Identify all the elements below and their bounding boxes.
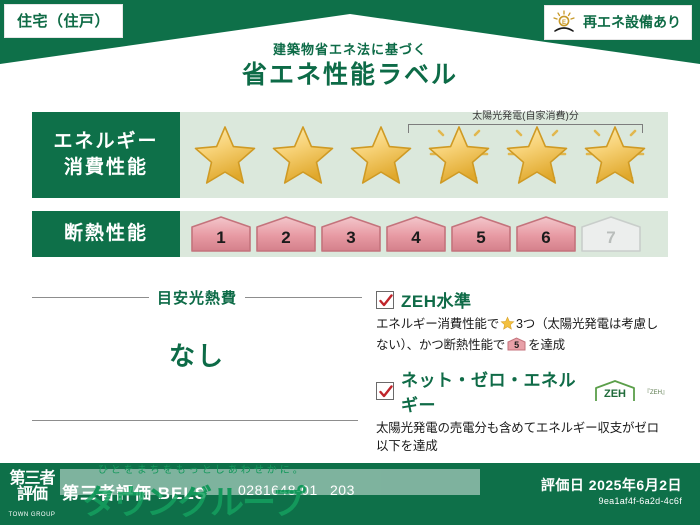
insulation-badge-7: 7 — [580, 215, 642, 253]
insulation-level-badges: 1234567 — [180, 215, 642, 253]
star-rating — [180, 118, 668, 192]
town-group-logo: 第三者評価 TOWN GROUP — [4, 471, 60, 518]
renewable-equipment-badge: E 再エネ設備あり — [544, 5, 692, 40]
energy-label-line1: エネルギー — [53, 129, 158, 155]
insulation-badge-value: 7 — [580, 228, 642, 248]
star-3 — [344, 118, 418, 192]
svg-text:E: E — [562, 20, 566, 26]
insulation-badge-2: 2 — [255, 215, 317, 253]
insulation-level-inline-badge: 5 — [507, 337, 526, 351]
energy-performance-value: 太陽光発電(自家消費)分 — [180, 112, 668, 198]
zeh-desc-part1: エネルギー消費性能で — [376, 317, 499, 331]
insulation-badge-1: 1 — [190, 215, 252, 253]
energy-performance-label: エネルギー 消費性能 — [32, 112, 180, 198]
insulation-badge-value: 1 — [190, 228, 252, 248]
insulation-performance-label: 断熱性能 — [32, 211, 180, 257]
town-group-mark: 第三者評価 — [4, 471, 60, 503]
insulation-label-text: 断熱性能 — [64, 221, 148, 247]
insulation-badge-value: 5 — [450, 228, 512, 248]
net-zero-description: 太陽光発電の売電分も含めてエネルギー収支がゼロ以下を達成 — [376, 419, 668, 455]
insulation-badge-value: 6 — [515, 228, 577, 248]
zeh-logo-subtext: 『ZEH』 — [644, 387, 668, 396]
sun-icon: E — [551, 10, 577, 34]
insulation-badge-5: 5 — [450, 215, 512, 253]
rating-rows: エネルギー 消費性能 太陽光発電(自家消費)分 — [32, 112, 668, 270]
star-6 — [578, 118, 652, 192]
house-type-tag: 住宅（住戸） — [4, 4, 123, 38]
utility-cost-heading: 目安光熱費 — [32, 287, 362, 308]
insulation-badge-value: 2 — [255, 228, 317, 248]
insulation-badge-4: 4 — [385, 215, 447, 253]
zeh-section: ZEH水準 エネルギー消費性能で3つ（太陽光発電は考慮しない）、かつ断熱性能で5… — [362, 287, 668, 468]
zeh-desc-part3: を達成 — [528, 338, 565, 352]
energy-label-line2: 消費性能 — [64, 155, 148, 181]
footer-bar: 第三者評価 TOWN GROUP 第三者評価 BELS 0281648-01 2… — [0, 463, 700, 525]
insulation-performance-row: 断熱性能 1234567 — [32, 211, 668, 257]
zeh-standard-title: ZEH水準 — [401, 287, 472, 312]
insulation-badge-6: 6 — [515, 215, 577, 253]
insulation-badge-3: 3 — [320, 215, 382, 253]
net-zero-energy-block: ネット・ゼロ・エネルギー ZEH 『ZEH』 太陽光発電の売電分も含めてエネルギ… — [376, 366, 668, 455]
utility-cost-bottom-rule — [32, 420, 358, 421]
utility-cost-section: 目安光熱費 なし — [32, 287, 362, 468]
inline-badge-value: 5 — [507, 339, 526, 352]
energy-label-root: 住宅（住戸） E 再エネ設備あり 建築物省エネ法に基づく 省エネ性能ラベル — [0, 0, 700, 525]
rule-right — [245, 297, 362, 298]
third-party-evaluation-label: 第三者評価 BELS — [62, 479, 207, 504]
evaluation-number-secondary: 203 — [330, 482, 355, 498]
star-5 — [500, 118, 574, 192]
net-zero-title: ネット・ゼロ・エネルギー — [401, 366, 586, 416]
evaluation-number: 0281648-01 — [238, 482, 318, 498]
insulation-performance-value: 1234567 — [180, 211, 668, 257]
renewable-badge-label: 再エネ設備あり — [583, 12, 681, 32]
town-group-text: TOWN GROUP — [4, 512, 60, 518]
insulation-badge-value: 3 — [320, 228, 382, 248]
title-subtitle: 建築物省エネ法に基づく — [0, 42, 700, 59]
insulation-badge-value: 4 — [385, 228, 447, 248]
title-main: 省エネ性能ラベル — [0, 60, 700, 91]
zeh-standard-block: ZEH水準 エネルギー消費性能で3つ（太陽光発電は考慮しない）、かつ断熱性能で5… — [376, 287, 668, 354]
svg-text:ZEH: ZEH — [604, 388, 626, 400]
utility-cost-value: なし — [32, 336, 362, 373]
star-1 — [188, 118, 262, 192]
star-4 — [422, 118, 496, 192]
zeh-standard-checkbox[interactable] — [376, 291, 394, 309]
net-zero-head: ネット・ゼロ・エネルギー ZEH 『ZEH』 — [376, 366, 668, 416]
lower-section: 目安光熱費 なし ZEH水準 エネルギー消費性能で3つ（太陽光発電は考 — [32, 287, 668, 468]
zeh-standard-description: エネルギー消費性能で3つ（太陽光発電は考慮しない）、かつ断熱性能で5を達成 — [376, 315, 668, 354]
zeh-house-logo-icon: ZEH — [593, 379, 637, 403]
net-zero-checkbox[interactable] — [376, 382, 394, 400]
utility-cost-heading-text: 目安光熱費 — [157, 287, 237, 308]
evaluation-hash: 9ea1af4f-6a2d-4c6f — [599, 496, 682, 506]
energy-performance-row: エネルギー 消費性能 太陽光発電(自家消費)分 — [32, 112, 668, 198]
zeh-standard-head: ZEH水準 — [376, 287, 668, 312]
evaluation-date: 評価日 2025年6月2日 — [541, 475, 682, 495]
rule-left — [32, 297, 149, 298]
star-icon — [500, 320, 515, 334]
star-2 — [266, 118, 340, 192]
label-title: 建築物省エネ法に基づく 省エネ性能ラベル — [0, 42, 700, 91]
